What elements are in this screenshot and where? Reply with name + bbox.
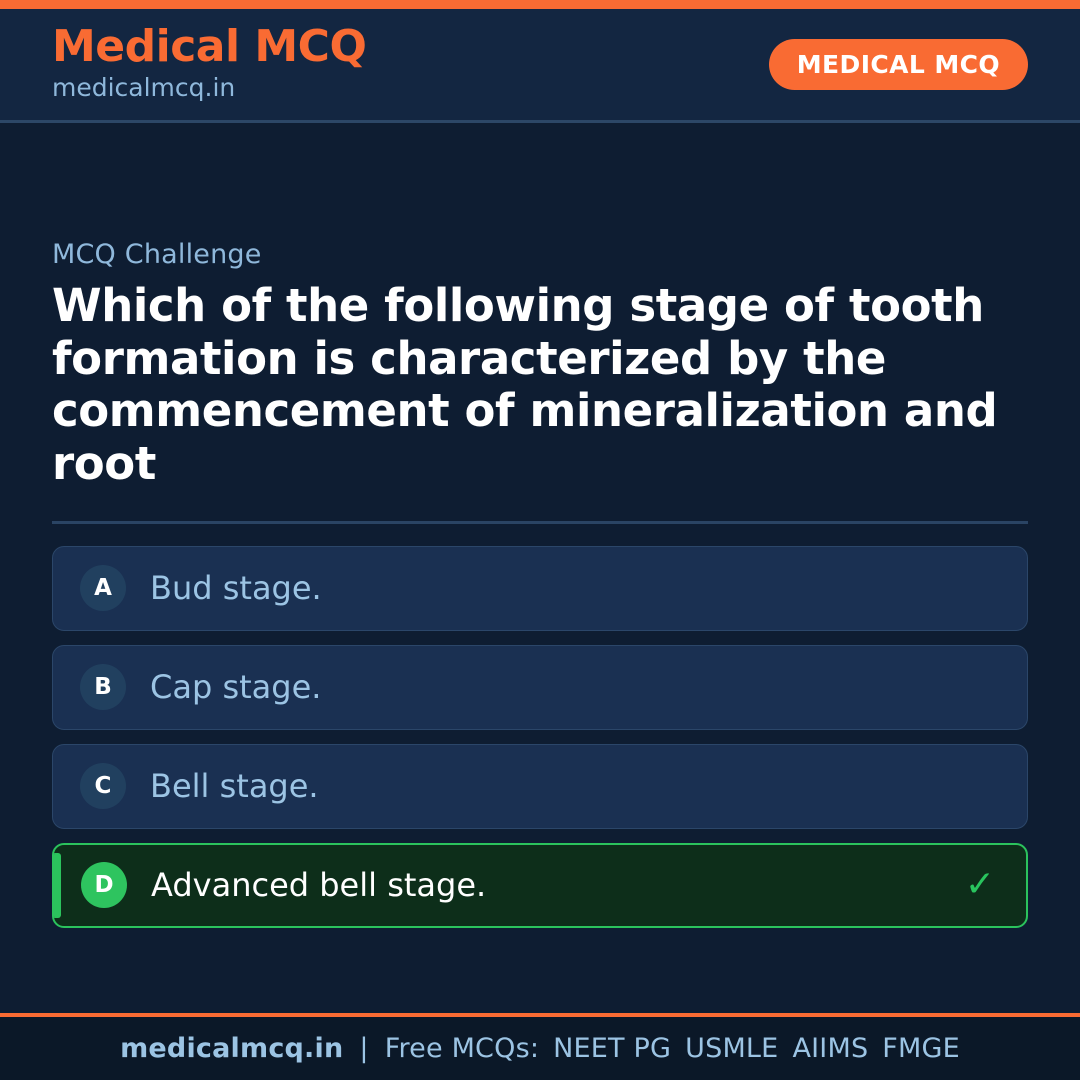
- footer-exams-label: Free MCQs:: [385, 1033, 539, 1064]
- option-letter-badge: B: [80, 664, 126, 710]
- option-a[interactable]: A Bud stage. ✓: [52, 546, 1028, 631]
- brand-block: Medical MCQ medicalmcq.in: [52, 24, 366, 105]
- option-letter-badge: A: [80, 565, 126, 611]
- option-d[interactable]: D Advanced bell stage. ✓: [52, 843, 1028, 928]
- option-label: Cap stage.: [150, 668, 1001, 706]
- option-label: Bud stage.: [150, 569, 1001, 607]
- mcq-card: Medical MCQ medicalmcq.in MEDICAL MCQ MC…: [0, 0, 1080, 1080]
- question-kicker: MCQ Challenge: [52, 239, 1028, 270]
- option-b[interactable]: B Cap stage. ✓: [52, 645, 1028, 730]
- correct-accent-bar: [54, 853, 61, 918]
- footer-exam-fmge: FMGE: [868, 1033, 960, 1064]
- footer-exam-aiims: AIIMS: [778, 1033, 868, 1064]
- option-letter-badge: C: [80, 763, 126, 809]
- top-accent-bar: [0, 0, 1080, 9]
- brand-subtitle: medicalmcq.in: [52, 72, 366, 105]
- question-divider: [52, 521, 1028, 524]
- footer-separator: |: [343, 1033, 384, 1064]
- page-header: Medical MCQ medicalmcq.in MEDICAL MCQ: [0, 9, 1080, 123]
- question-block: MCQ Challenge Which of the following sta…: [52, 239, 1028, 491]
- footer-exam-neet-pg: NEET PG: [539, 1033, 671, 1064]
- option-label: Bell stage.: [150, 767, 1001, 805]
- brand-title: Medical MCQ: [52, 24, 366, 70]
- footer-site: medicalmcq.in: [120, 1033, 343, 1064]
- page-footer: medicalmcq.in | Free MCQs: NEET PG USMLE…: [0, 1013, 1080, 1080]
- question-text: Which of the following stage of tooth fo…: [52, 280, 1012, 491]
- footer-exam-usmle: USMLE: [671, 1033, 778, 1064]
- option-c[interactable]: C Bell stage. ✓: [52, 744, 1028, 829]
- header-badge: MEDICAL MCQ: [769, 39, 1028, 90]
- option-label: Advanced bell stage.: [151, 866, 960, 904]
- check-icon: ✓: [960, 867, 1000, 903]
- main-content: MCQ Challenge Which of the following sta…: [0, 123, 1080, 1013]
- options-list: A Bud stage. ✓ B Cap stage. ✓ C Bell sta…: [52, 546, 1028, 928]
- option-letter-badge: D: [81, 862, 127, 908]
